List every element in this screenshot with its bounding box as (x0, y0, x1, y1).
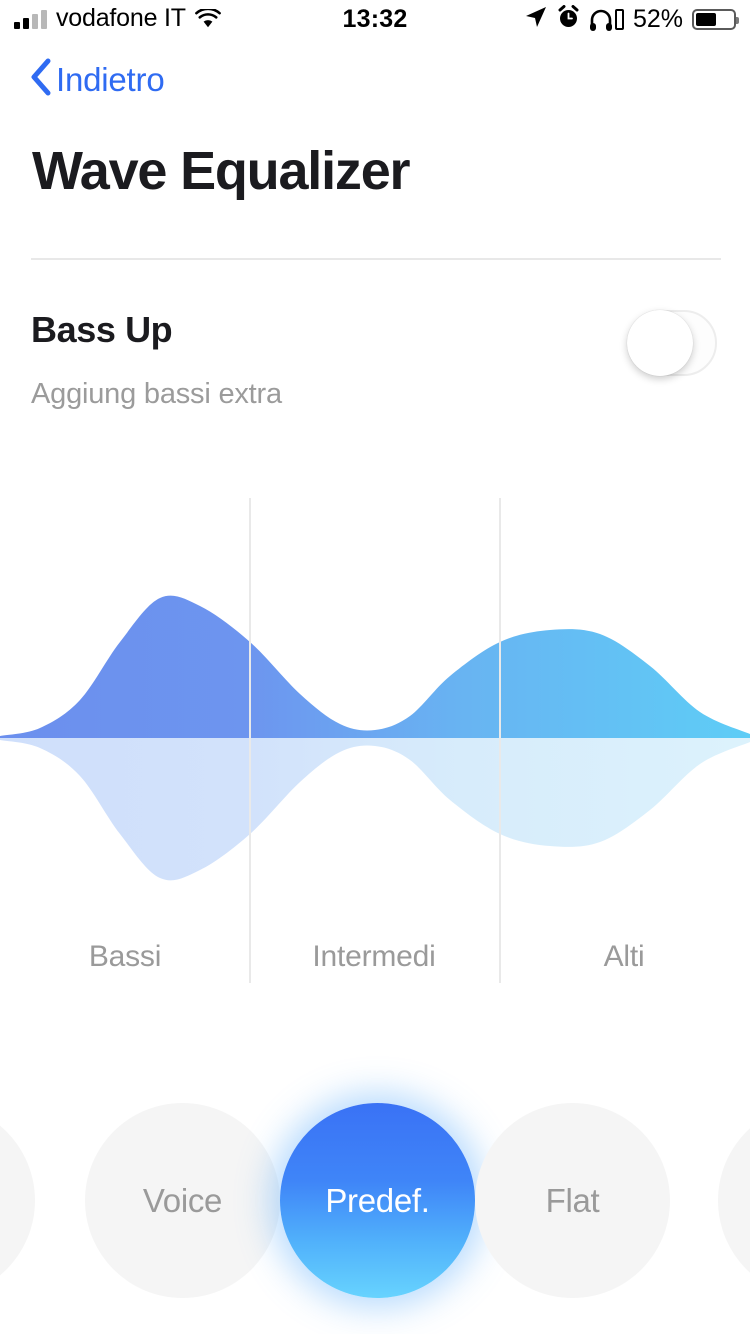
page-title: Wave Equalizer (32, 140, 409, 202)
band-label-alti: Alti (604, 940, 645, 974)
band-divider-line (499, 498, 501, 983)
band-label-bassi: Bassi (89, 940, 161, 974)
band-labels: Bassi Intermedi Alti (0, 940, 750, 988)
battery-icon (692, 9, 736, 30)
preset-button-voice[interactable]: Voice (85, 1103, 280, 1298)
app-screen: vodafone IT 13:32 (0, 0, 750, 1334)
back-button-label: Indietro (56, 61, 164, 99)
preset-button-predef[interactable]: Predef. (280, 1103, 475, 1298)
preset-button-partial[interactable] (718, 1103, 750, 1298)
bass-up-toggle[interactable] (627, 310, 717, 376)
band-label-intermedi: Intermedi (312, 940, 435, 974)
status-bar: vodafone IT 13:32 (0, 0, 750, 46)
bass-up-label: Bass Up (31, 309, 172, 351)
chevron-left-icon (30, 58, 52, 101)
wave-upper-path (0, 596, 750, 738)
back-button[interactable]: Indietro (30, 58, 164, 101)
preset-button-flat[interactable]: Flat (475, 1103, 670, 1298)
headphones-icon (589, 9, 624, 31)
equalizer-wave-chart[interactable] (0, 470, 750, 1000)
location-arrow-icon (524, 5, 548, 34)
headphones-battery-icon (615, 9, 624, 30)
preset-button-partial[interactable] (0, 1103, 35, 1298)
preset-label: Flat (546, 1182, 600, 1220)
preset-label: Voice (143, 1182, 222, 1220)
band-divider-line (249, 498, 251, 983)
preset-label: Predef. (325, 1182, 429, 1220)
wave-svg (0, 470, 750, 1000)
header-divider (31, 258, 721, 260)
preset-carousel[interactable]: VoicePredef.Flat (0, 1103, 750, 1298)
alarm-clock-icon (557, 5, 580, 34)
bass-up-description: Aggiung bassi extra (31, 378, 282, 411)
toggle-knob (627, 310, 693, 376)
battery-percent-label: 52% (633, 5, 683, 34)
status-bar-right: 52% (524, 5, 736, 34)
wave-lower-path (0, 738, 750, 880)
